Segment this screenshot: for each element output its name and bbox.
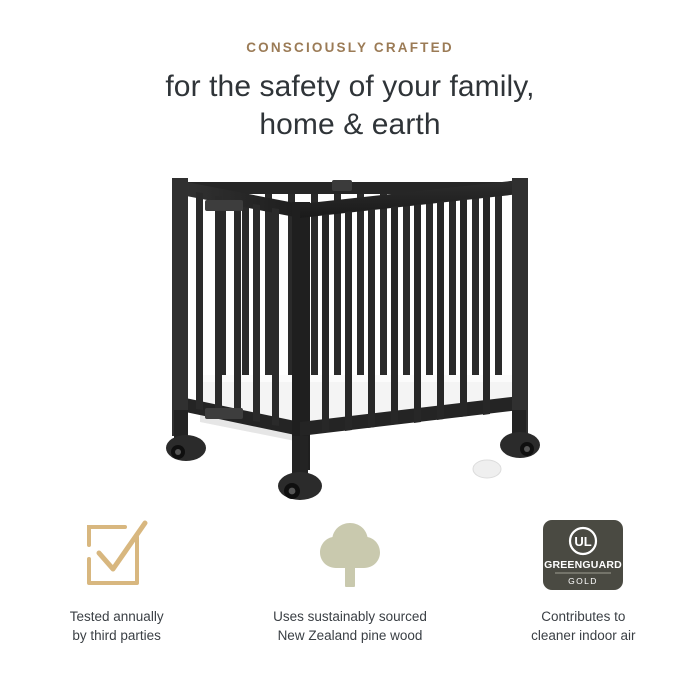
feature-3-line-2: cleaner indoor air — [531, 626, 635, 645]
feature-item-wood: Uses sustainably sourced New Zealand pin… — [233, 515, 466, 675]
feature-1-line-1: Tested annually — [70, 609, 164, 624]
feature-2-line-1: Uses sustainably sourced — [273, 609, 427, 624]
feature-item-tested: Tested annually by third parties — [0, 515, 233, 675]
headline-line-2: home & earth — [0, 106, 700, 144]
eyebrow-text: CONSCIOUSLY CRAFTED — [0, 40, 700, 55]
checkbox-check-icon — [81, 515, 153, 595]
feature-list: Tested annually by third parties Uses su… — [0, 515, 700, 675]
greenguard-gold-badge-icon: UL GREENGUARD GOLD — [535, 515, 631, 595]
feature-label-tested: Tested annually by third parties — [70, 607, 164, 645]
feature-label-wood: Uses sustainably sourced New Zealand pin… — [273, 607, 427, 645]
tree-icon — [314, 515, 386, 595]
headline-line-1: for the safety of your family, — [165, 70, 534, 103]
product-infographic-page: CONSCIOUSLY CRAFTED for the safety of yo… — [0, 0, 700, 700]
feature-1-line-2: by third parties — [70, 626, 164, 645]
feature-2-line-2: New Zealand pine wood — [273, 626, 427, 645]
badge-subtitle-text: GOLD — [568, 576, 598, 586]
badge-mark-text: UL — [575, 534, 592, 549]
feature-label-greenguard: Contributes to cleaner indoor air — [531, 607, 635, 645]
feature-3-line-1: Contributes to — [541, 609, 625, 624]
badge-title-text: GREENGUARD — [544, 559, 622, 571]
page-title: for the safety of your family, home & ea… — [0, 68, 700, 144]
feature-item-greenguard: UL GREENGUARD GOLD Contributes to cleane… — [467, 515, 700, 675]
product-image-crib — [0, 160, 700, 510]
crib-casters — [166, 432, 540, 500]
